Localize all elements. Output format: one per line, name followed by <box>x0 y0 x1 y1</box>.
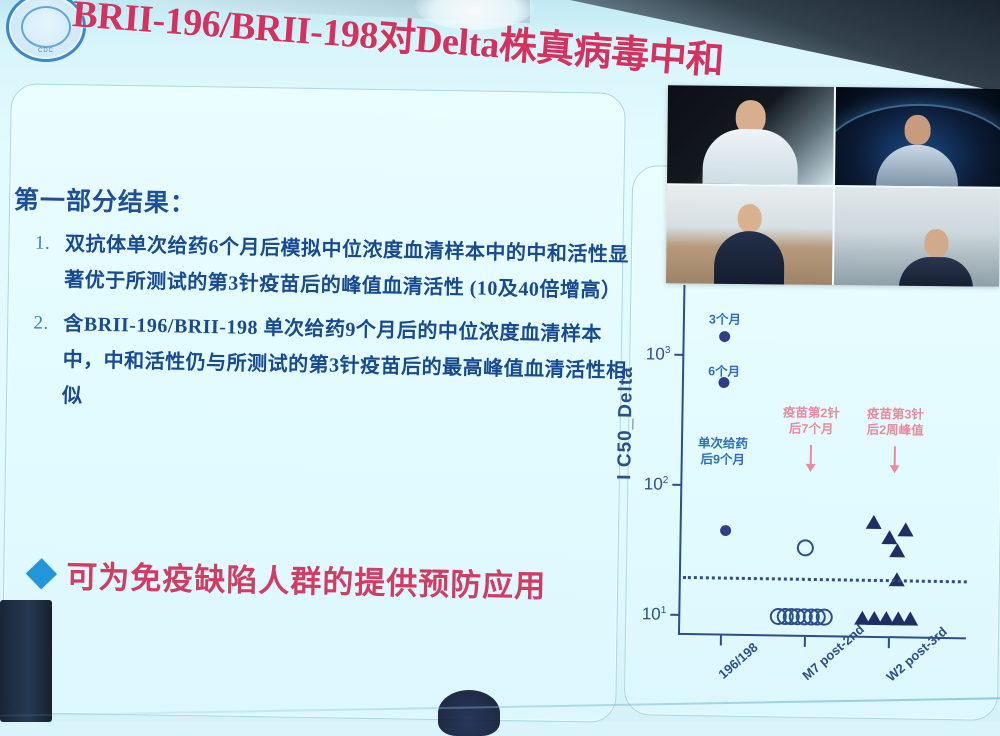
slide-title: BRII-196/BRII-198对Delta株真病毒中和 <box>71 0 726 85</box>
scatter-plot: I C50_Delta 101102103 196/198M7 post-2nd… <box>677 285 973 682</box>
x-axis-tick-label: M7 post-2nd <box>799 621 867 683</box>
result-item-number: 2. <box>33 306 49 342</box>
result-item: 2.含BRII-196/BRII-198 单次给药9个月后的中位浓度血清样本中，… <box>62 306 634 425</box>
y-axis-tick <box>672 484 681 486</box>
conference-room-scene: CDC 0.19分 BRII-196/BRII-198对Delta株真病毒中和 … <box>0 0 1000 722</box>
avatar <box>737 204 761 232</box>
annotation-arrow-icon <box>810 445 812 465</box>
data-point-marker <box>719 331 730 342</box>
plot-annotation-label: 单次给药后9个月 <box>698 435 749 468</box>
limit-of-detection-line <box>683 576 967 583</box>
result-item-text: 双抗体单次给药6个月后模拟中位浓度血清样本中的中和活性显著优于所测试的第3针疫苗… <box>64 233 629 302</box>
audience-silhouette <box>438 690 500 736</box>
results-list: 1.双抗体单次给药6个月后模拟中位浓度血清样本中的中和活性显著优于所测试的第3针… <box>29 226 635 434</box>
avatar-body <box>899 256 973 286</box>
room-speaker <box>0 600 52 722</box>
annotation-line: 疫苗第2针 <box>783 404 840 421</box>
data-point-marker <box>816 608 833 625</box>
plot-annotation-label: 6个月 <box>708 363 740 379</box>
plot-annotation-label: 3个月 <box>709 311 741 327</box>
annotation-line: 单次给药 <box>698 435 748 452</box>
conclusion-line: 可为免疫缺陷人群的提供预防应用 <box>30 551 547 606</box>
slide-body: 第一部分结果： 1.双抗体单次给药6个月后模拟中位浓度血清样本中的中和活性显著优… <box>0 95 620 667</box>
y-axis-line <box>678 285 685 635</box>
avatar-body <box>702 129 798 185</box>
result-item: 1.双抗体单次给药6个月后模拟中位浓度血清样本中的中和活性显著优于所测试的第3针… <box>64 226 635 309</box>
plot-annotation-label: 疫苗第2针后7个月 <box>783 404 840 437</box>
avatar-body <box>714 231 785 285</box>
x-axis-tick-label: 196/198 <box>715 640 760 682</box>
annotation-line: 3个月 <box>709 311 741 327</box>
y-axis-tick-label: 101 <box>642 604 667 624</box>
conclusion-text: 可为免疫缺陷人群的提供预防应用 <box>66 551 547 606</box>
data-point-marker <box>902 611 918 625</box>
x-axis-tick <box>888 638 890 648</box>
data-point-marker <box>889 544 905 558</box>
data-point-marker <box>720 525 731 536</box>
annotation-line: 疫苗第3针 <box>867 406 924 423</box>
data-point-marker <box>898 523 914 537</box>
annotation-line: 后7个月 <box>783 420 840 437</box>
data-point-marker <box>797 539 814 556</box>
data-point-marker <box>866 514 882 528</box>
seal-inner-ring <box>21 6 71 48</box>
annotation-line: 后9个月 <box>698 451 748 468</box>
avatar <box>905 115 931 145</box>
avatar <box>924 229 948 257</box>
video-conference-grid[interactable] <box>666 85 1000 286</box>
y-axis-tick <box>670 614 679 616</box>
y-axis-tick-label: 102 <box>644 474 669 494</box>
participant-top-left[interactable] <box>667 85 834 185</box>
x-axis-tick <box>804 637 806 647</box>
annotation-arrow-icon <box>894 446 896 466</box>
seal-label: CDC <box>9 48 83 54</box>
result-item-number: 1. <box>35 226 51 262</box>
annotation-line: 6个月 <box>708 363 740 379</box>
diamond-bullet-icon <box>26 558 57 589</box>
participant-bottom-right[interactable] <box>833 187 1000 287</box>
annotation-line: 后2周峰值 <box>867 422 924 439</box>
y-axis-tick <box>674 354 683 356</box>
plot-annotation-label: 疫苗第3针后2周峰值 <box>867 406 924 439</box>
data-point-marker <box>881 530 897 544</box>
participant-bottom-left[interactable] <box>666 185 833 285</box>
x-axis-tick <box>720 636 722 646</box>
participant-top-right[interactable] <box>835 87 1000 187</box>
result-item-text: 含BRII-196/BRII-198 单次给药9个月后的中位浓度血清样本中，中和… <box>62 313 627 407</box>
section-heading: 第一部分结果： <box>14 180 197 220</box>
x-axis-tick-label: W2 post-3rd <box>883 624 949 685</box>
y-axis-tick-label: 103 <box>646 344 671 364</box>
